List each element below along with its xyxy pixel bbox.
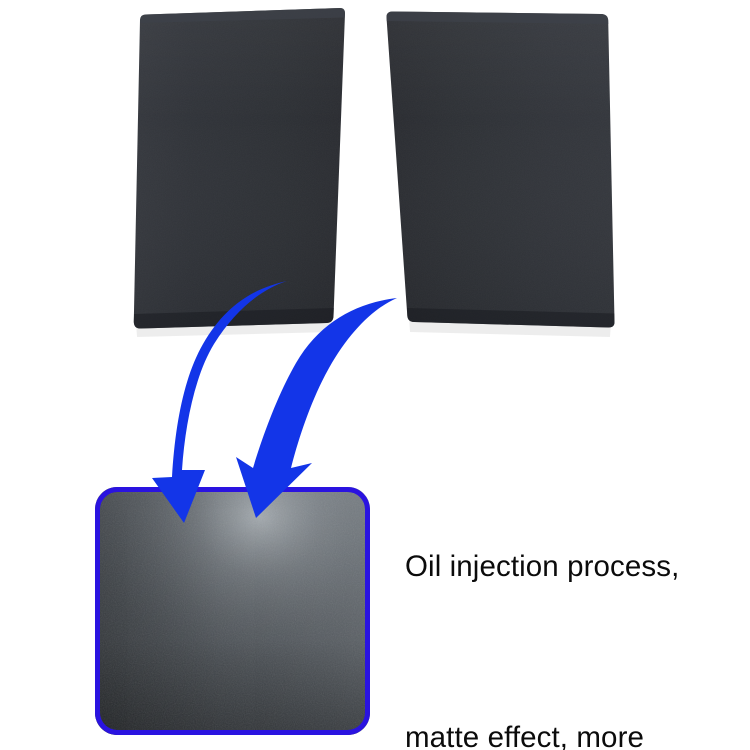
inset-grain-dark [95,487,370,735]
left-panel-shading [120,0,360,340]
product-illustration [0,0,750,750]
left-phone-back-panel [120,0,360,340]
matte-surface-detail-inset [95,487,370,735]
right-phone-back-panel [380,0,625,340]
inset-surface [95,487,370,735]
right-panel-shading [380,0,625,340]
product-image-canvas: Oil injection process, matte effect, mor… [0,0,750,750]
